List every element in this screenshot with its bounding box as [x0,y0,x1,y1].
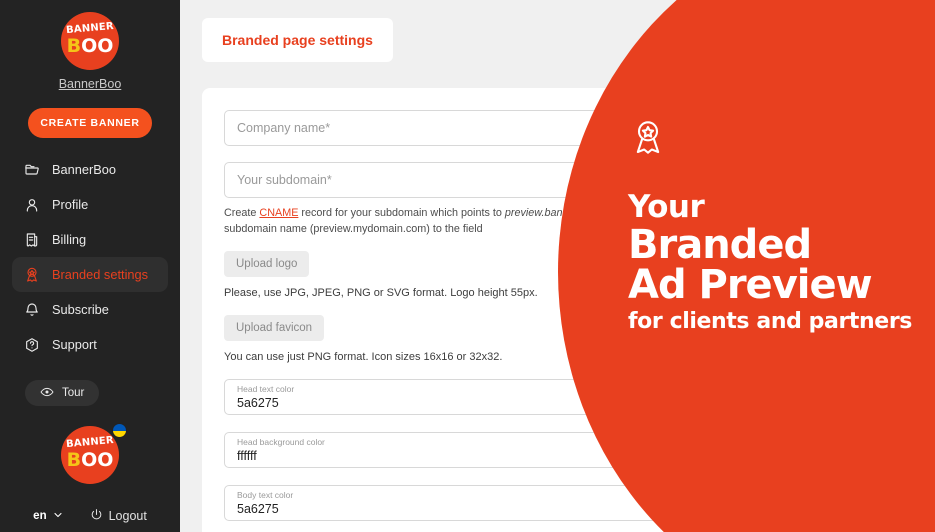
promo-panel: Your Branded Ad Preview for clients and … [628,118,935,339]
cname-helper-prefix: Create [224,207,259,219]
head-text-color-value: 5a6275 [237,395,751,411]
body-text-color-label: Body text color [237,490,751,501]
language-selector[interactable]: en [33,509,63,524]
promo-line-4: for clients and partners [628,305,935,339]
logout-label: Logout [109,509,147,523]
user-icon [24,197,40,213]
body-text-color-value: 5a6275 [237,501,751,517]
sidebar-item-subscribe[interactable]: Subscribe [12,292,168,327]
logo-boo-text: BOO [61,451,119,470]
company-name-placeholder: Company name* [237,121,330,135]
upload-logo-button[interactable]: Upload logo [224,251,309,277]
promo-line-3: Ad Preview [628,265,935,305]
sidebar-item-branded-settings[interactable]: Branded settings [12,257,168,292]
sidebar-item-profile[interactable]: Profile [12,187,168,222]
sidebar-item-billing[interactable]: Billing [12,222,168,257]
award-ribbon-icon [628,118,935,163]
tabbar: Branded page settings [180,0,935,62]
cname-helper-line2: subdomain name (preview.mydomain.com) to… [224,223,483,235]
sidebar-nav: BannerBoo Profile Billing Branded settin… [0,152,180,362]
cname-helper-italic: preview.bannerbo [505,207,590,219]
sidebar-item-label: BannerBoo [52,162,116,177]
promo-line-2: Branded [628,225,935,265]
head-background-color-value: ffffff [237,448,751,464]
head-background-color-label: Head background color [237,437,751,448]
eye-icon [40,385,54,402]
bell-icon [24,302,40,318]
main-content: Branded page settings Company name* Your… [180,0,935,532]
subdomain-placeholder: Your subdomain* [237,173,332,187]
head-background-color-input[interactable]: Head background color ffffff [224,432,764,468]
sidebar-item-label: Support [52,337,97,352]
sidebar: BANNER BOO BannerBoo CREATE BANNER Banne… [0,0,180,532]
sidebar-item-support[interactable]: Support [12,327,168,362]
tour-label: Tour [62,387,84,399]
sidebar-bottom-logo[interactable]: BANNER BOO [61,426,119,484]
receipt-icon [24,232,40,248]
sidebar-item-bannerboo[interactable]: BannerBoo [12,152,168,187]
bannerboo-logo-mark-bottom: BANNER BOO [61,426,119,484]
flag-yellow-stripe [113,431,126,438]
logo-boo-text: BOO [61,37,119,56]
folder-icon [24,162,40,178]
sidebar-logo[interactable]: BANNER BOO [61,12,119,70]
ukraine-flag-badge [112,423,127,438]
logo-boo-b: B [67,449,81,471]
cname-helper-mid: record for your subdomain which points t… [298,207,504,219]
tab-branded-page-settings[interactable]: Branded page settings [202,18,393,62]
head-text-color-label: Head text color [237,384,751,395]
cname-link[interactable]: CNAME [259,207,298,219]
logo-boo-oo: OO [81,35,113,57]
logo-boo-oo: OO [81,449,113,471]
upload-favicon-button[interactable]: Upload favicon [224,315,324,341]
promo-line-1: Your [628,189,935,225]
head-text-color-input[interactable]: Head text color 5a6275 [224,379,764,415]
create-banner-button[interactable]: CREATE BANNER [28,108,152,138]
help-hexagon-icon [24,337,40,353]
sidebar-item-label: Subscribe [52,302,109,317]
award-ribbon-icon [24,267,40,283]
language-value: en [33,510,46,522]
logout-button[interactable]: Logout [90,508,147,524]
sidebar-footer: en Logout [0,508,180,524]
sidebar-item-label: Branded settings [52,267,148,282]
logo-boo-b: B [67,35,81,57]
body-text-color-input[interactable]: Body text color 5a6275 [224,485,764,521]
power-icon [90,508,103,524]
favicon-format-note: You can use just PNG format. Icon sizes … [224,351,935,363]
tour-button[interactable]: Tour [25,380,99,406]
chevron-down-icon [52,509,64,524]
sidebar-item-label: Billing [52,232,86,247]
app-root: BANNER BOO BannerBoo CREATE BANNER Banne… [0,0,935,532]
sidebar-item-label: Profile [52,197,88,212]
sidebar-brand-name[interactable]: BannerBoo [59,77,122,91]
bannerboo-logo-mark: BANNER BOO [61,12,119,70]
